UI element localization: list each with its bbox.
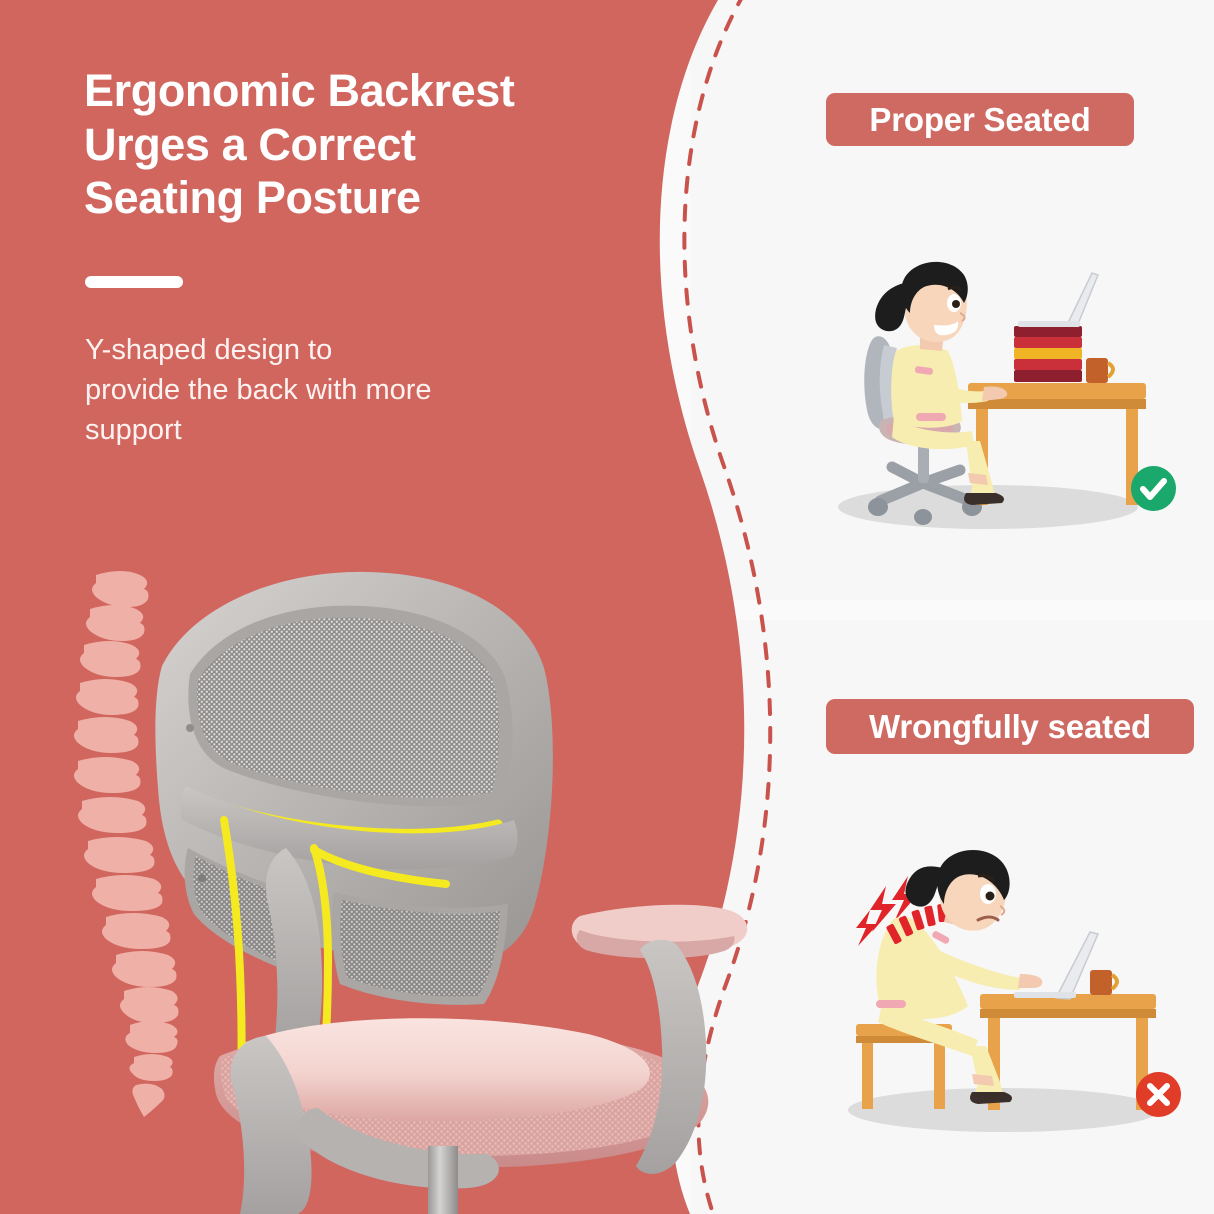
headline-line-3: Seating Posture (84, 171, 644, 225)
title-divider (85, 276, 183, 288)
subtitle-line-3: support (85, 410, 585, 450)
badge-proper-seated: Proper Seated (826, 93, 1134, 146)
headline-line-2: Urges a Correct (84, 118, 644, 172)
page-title: Ergonomic Backrest Urges a Correct Seati… (84, 64, 644, 225)
badge-wrongfully-seated: Wrongfully seated (826, 699, 1194, 754)
subtitle-line-1: Y-shaped design to (85, 330, 585, 370)
subtitle-line-2: provide the back with more (85, 370, 585, 410)
gas-cylinder (428, 1146, 458, 1214)
product-chair-image (128, 548, 768, 1214)
infographic-canvas: Ergonomic Backrest Urges a Correct Seati… (0, 0, 1214, 1214)
headline-line-1: Ergonomic Backrest (84, 64, 644, 118)
backrest-mesh-lower-right (340, 900, 500, 997)
page-subtitle: Y-shaped design to provide the back with… (85, 330, 585, 450)
